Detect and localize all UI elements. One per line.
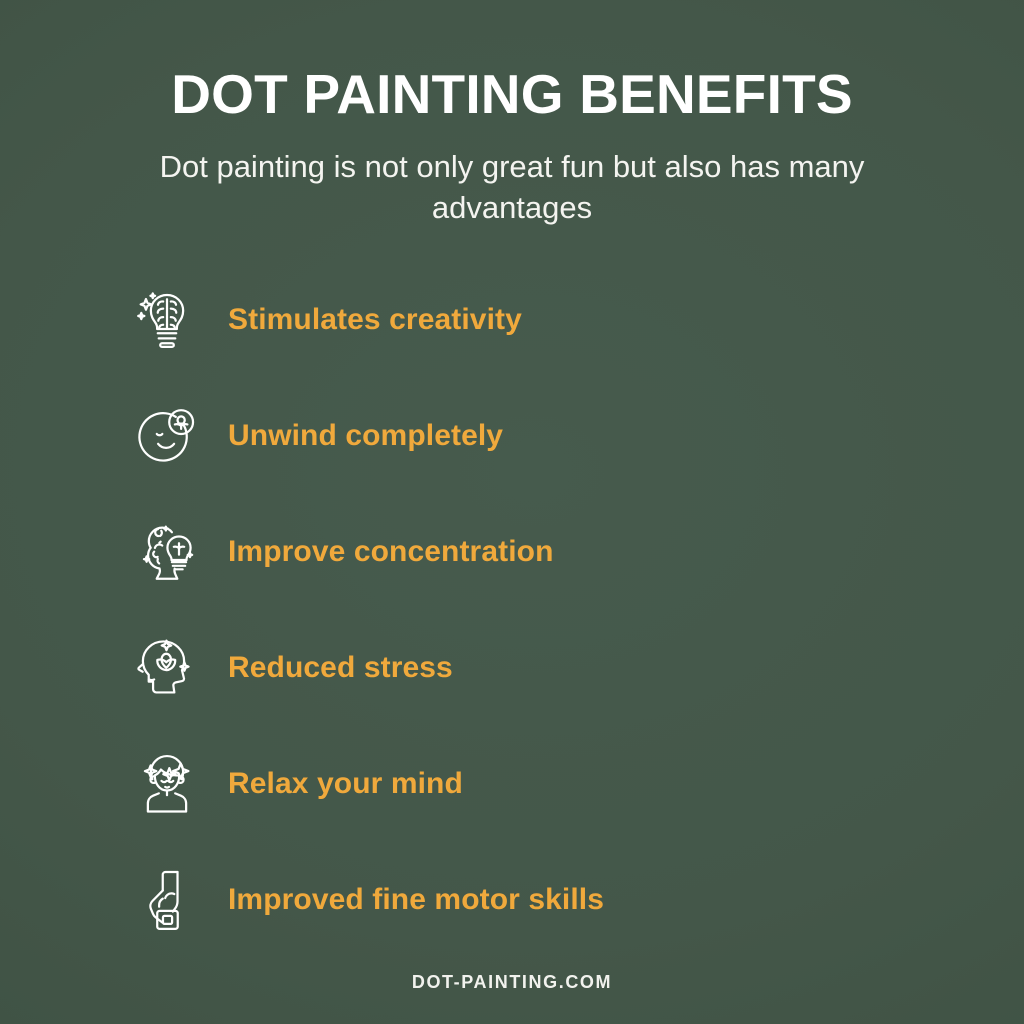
benefit-label: Unwind completely (228, 419, 503, 453)
brain-lightbulb-icon (131, 284, 203, 356)
list-item: Relax your mind (131, 726, 1024, 842)
benefit-label: Reduced stress (228, 651, 453, 685)
poster-canvas: DOT PAINTING BENEFITS Dot painting is no… (0, 0, 1024, 1024)
page-subtitle: Dot painting is not only great fun but a… (142, 146, 882, 228)
hand-pinching-object-icon (131, 864, 203, 936)
poster-header: DOT PAINTING BENEFITS Dot painting is no… (0, 0, 1024, 228)
head-lotus-icon (131, 632, 203, 704)
benefit-label: Improved fine motor skills (228, 883, 604, 917)
website-footer: DOT-PAINTING.COM (0, 972, 1024, 993)
page-title: DOT PAINTING BENEFITS (0, 66, 1024, 124)
relaxed-woman-sparkles-icon (131, 748, 203, 820)
benefit-label: Stimulates creativity (228, 303, 522, 337)
benefits-list: Stimulates creativity Unwind completely (0, 262, 1024, 958)
head-lightbulb-icon (131, 516, 203, 588)
list-item: Stimulates creativity (131, 262, 1024, 378)
benefit-label: Relax your mind (228, 767, 463, 801)
list-item: Improve concentration (131, 494, 1024, 610)
benefit-label: Improve concentration (228, 535, 554, 569)
list-item: Improved fine motor skills (131, 842, 1024, 958)
smiling-face-flower-icon (131, 400, 203, 472)
list-item: Unwind completely (131, 378, 1024, 494)
list-item: Reduced stress (131, 610, 1024, 726)
